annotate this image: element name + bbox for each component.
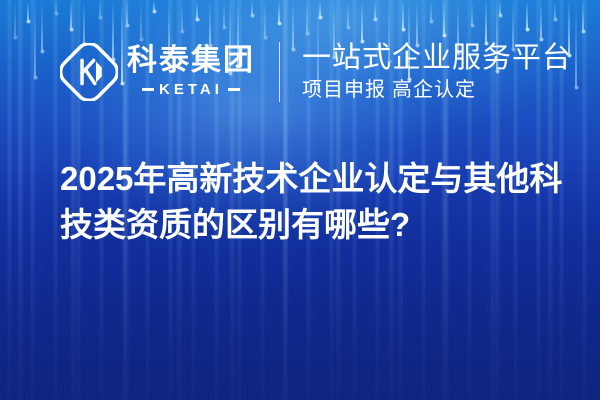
light-streak-head <box>277 21 282 26</box>
light-streak-tail <box>70 0 72 30</box>
light-streak <box>223 0 225 28</box>
light-streak-head <box>13 35 18 40</box>
ketai-diamond-k-logo-icon <box>60 43 118 101</box>
light-streak-head <box>429 19 434 24</box>
light-streak-tail <box>306 0 308 34</box>
page-title-line-1: 2025年高新技术企业认定与其他科 <box>60 156 580 202</box>
page-title-line-2: 技类资质的区别有哪些? <box>60 202 580 248</box>
light-streak-tail <box>14 0 16 38</box>
page-title: 2025年高新技术企业认定与其他科 技类资质的区别有哪些? <box>60 156 580 248</box>
light-streak <box>196 0 198 20</box>
light-streak-head <box>498 13 503 18</box>
light-streak-tail <box>485 0 487 44</box>
brand-name-cn: 科泰集团 <box>127 44 255 77</box>
light-streak-head <box>401 27 406 32</box>
light-streak <box>126 0 128 26</box>
light-streak <box>140 0 142 40</box>
light-streak-tail <box>83 0 85 44</box>
light-streak-head <box>180 29 185 34</box>
light-streak <box>402 0 404 30</box>
light-streak-head <box>125 23 130 28</box>
light-streak <box>306 0 308 34</box>
light-streak <box>554 0 556 20</box>
tagline-main: 一站式企业服务平台 <box>302 42 572 74</box>
light-streak-tail <box>347 0 349 28</box>
brand-name-en-row: KETAI <box>127 81 255 98</box>
light-streak-head <box>195 17 200 22</box>
light-streak <box>582 0 584 32</box>
light-streak-tail <box>443 0 445 36</box>
light-streak-head <box>574 85 579 90</box>
light-streak-tail <box>575 0 577 88</box>
light-streak <box>319 0 321 18</box>
brand-wordmark: 科泰集团 KETAI <box>127 46 255 98</box>
light-streak <box>430 0 432 22</box>
light-streak <box>41 0 43 52</box>
light-streak <box>153 0 155 12</box>
light-streak-tail <box>526 0 528 30</box>
light-streak-head <box>26 19 31 24</box>
light-streak-tail <box>181 0 183 32</box>
light-streak <box>374 0 376 20</box>
light-streak-head <box>152 9 157 14</box>
light-streak-head <box>581 29 586 34</box>
light-streak <box>99 0 101 18</box>
light-streak <box>209 0 211 46</box>
light-streak <box>251 0 253 16</box>
light-streak-head <box>263 35 268 40</box>
light-streak-tail <box>223 0 225 28</box>
light-streak-head <box>54 11 59 16</box>
light-streak <box>347 0 349 28</box>
light-streak-tail <box>540 0 542 40</box>
light-streak <box>264 0 266 38</box>
light-streak-head <box>250 13 255 18</box>
light-streak-tail <box>34 0 36 78</box>
light-streak <box>526 0 528 30</box>
light-streak <box>14 0 16 38</box>
light-streak-head <box>346 25 351 30</box>
vertical-divider <box>279 42 280 102</box>
light-streak-tail <box>140 0 142 40</box>
light-streak-head <box>525 27 530 32</box>
light-streak-tail <box>209 0 211 46</box>
light-streak-head <box>222 25 227 30</box>
light-streak <box>443 0 445 36</box>
light-streak <box>361 0 363 42</box>
light-streak-tail <box>416 0 418 46</box>
light-streak-head <box>470 23 475 28</box>
light-streak-head <box>442 33 447 38</box>
promo-banner: 科泰集团 KETAI 一站式企业服务平台 项目申报 高企认定 2025年高新技术… <box>0 0 600 400</box>
banner-header: 科泰集团 KETAI 一站式企业服务平台 项目申报 高企认定 <box>60 42 572 102</box>
brand-logo[interactable]: 科泰集团 KETAI <box>60 43 255 101</box>
light-streak <box>499 0 501 16</box>
light-streak <box>55 0 57 14</box>
light-streak-tail <box>402 0 404 30</box>
light-streak-tail <box>41 0 43 52</box>
light-streak <box>416 0 418 46</box>
light-streak <box>540 0 542 40</box>
light-streak-head <box>69 27 74 32</box>
light-streak <box>27 0 29 22</box>
light-streak <box>34 0 36 78</box>
light-streak <box>181 0 183 32</box>
light-streak <box>70 0 72 30</box>
light-streak <box>278 0 280 24</box>
tagline-sub: 项目申报 高企认定 <box>302 78 572 102</box>
brand-tagline: 一站式企业服务平台 项目申报 高企认定 <box>302 42 572 102</box>
light-streak-head <box>40 49 45 54</box>
light-streak <box>485 0 487 44</box>
light-streak-head <box>98 15 103 20</box>
light-streak <box>471 0 473 26</box>
light-streak-head <box>305 31 310 36</box>
light-streak <box>83 0 85 44</box>
light-streak-tail <box>361 0 363 42</box>
dash-left-icon <box>142 88 154 91</box>
light-streak-tail <box>582 0 584 32</box>
light-streak <box>575 0 577 88</box>
dash-right-icon <box>228 88 240 91</box>
light-streak-head <box>553 17 558 22</box>
brand-name-en: KETAI <box>159 81 223 98</box>
light-streak-head <box>33 75 38 80</box>
light-streak-head <box>373 17 378 22</box>
light-streak-tail <box>264 0 266 38</box>
